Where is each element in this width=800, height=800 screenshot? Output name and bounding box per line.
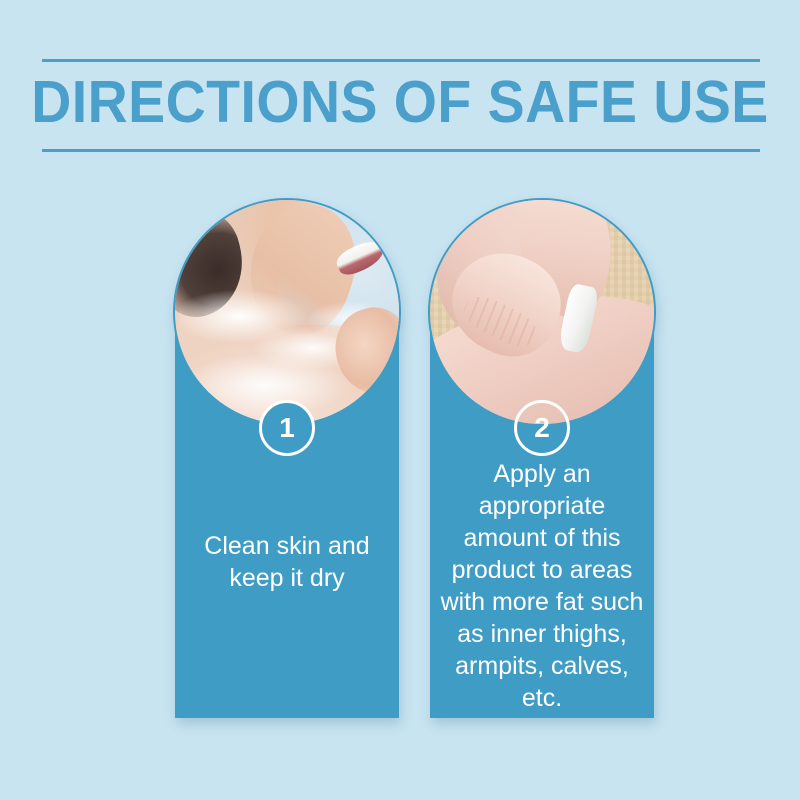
- step-badge-1: 1: [259, 400, 315, 456]
- step-1-caption: Clean skin and keep it dry: [179, 530, 395, 594]
- step-1-photo-image: [175, 200, 399, 424]
- step-badge-2-number: 2: [534, 414, 550, 442]
- step-2-caption: Apply an appropriate amount of this prod…: [434, 458, 650, 714]
- step-card-2[interactable]: 2 Apply an appropriate amount of this pr…: [430, 200, 654, 718]
- step-badge-2: 2: [514, 400, 570, 456]
- title-rule-bottom: [42, 149, 760, 152]
- step-1-photo: [175, 200, 399, 424]
- step-card-1[interactable]: 1 Clean skin and keep it dry: [175, 200, 399, 718]
- page-title: DIRECTIONS OF SAFE USE: [24, 66, 776, 138]
- steps-container: 1 Clean skin and keep it dry 2: [0, 200, 800, 730]
- title-rule-top: [42, 59, 760, 62]
- step-2-photo: [430, 200, 654, 424]
- step-badge-1-number: 1: [279, 414, 295, 442]
- poster-root: DIRECTIONS OF SAFE USE 1 Cl: [0, 0, 800, 800]
- poster-header: DIRECTIONS OF SAFE USE: [0, 50, 800, 160]
- step-2-photo-image: [430, 200, 654, 424]
